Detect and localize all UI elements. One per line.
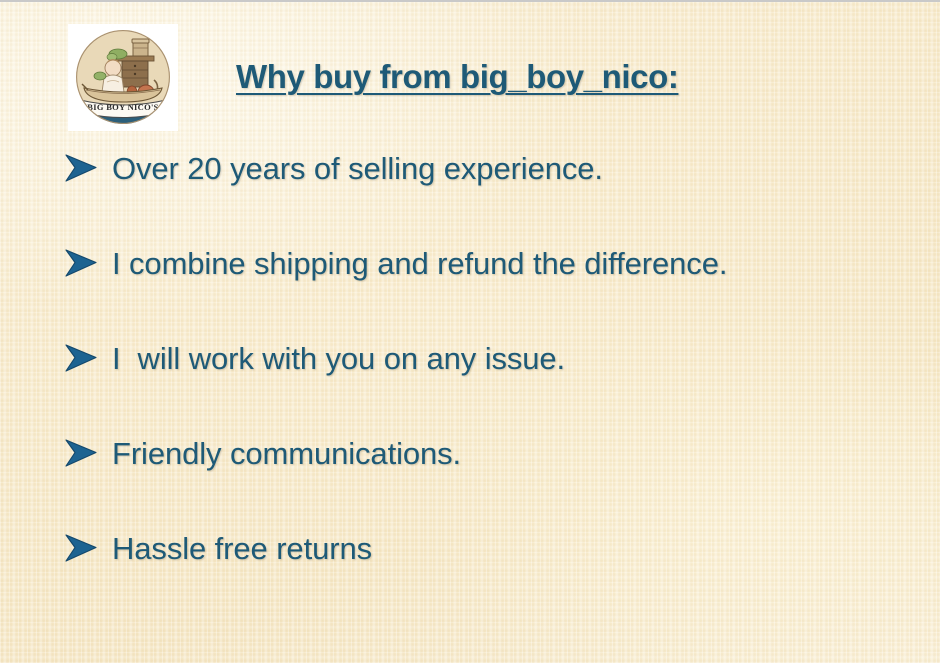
list-item: I will work with you on any issue. bbox=[64, 340, 924, 435]
svg-text:BIG BOY NICO'S: BIG BOY NICO'S bbox=[87, 102, 158, 112]
list-item-label: I combine shipping and refund the differ… bbox=[112, 245, 924, 283]
arrow-bullet-icon bbox=[64, 150, 112, 183]
arrow-bullet-icon bbox=[64, 245, 112, 278]
list-item: Over 20 years of selling experience. bbox=[64, 150, 924, 245]
arrow-bullet-icon bbox=[64, 340, 112, 373]
list-item-label: Over 20 years of selling experience. bbox=[112, 150, 924, 188]
slide-title: Why buy from big_boy_nico: bbox=[236, 58, 678, 96]
list-item-label: I will work with you on any issue. bbox=[112, 340, 924, 378]
list-item: I combine shipping and refund the differ… bbox=[64, 245, 924, 340]
logo-illustration: BIG BOY NICO'S bbox=[76, 30, 170, 124]
list-item: Friendly communications. bbox=[64, 435, 924, 530]
list-item-label: Friendly communications. bbox=[112, 435, 924, 473]
list-item-label: Hassle free returns bbox=[112, 530, 924, 568]
arrow-bullet-icon bbox=[64, 435, 112, 468]
list-item: Hassle free returns bbox=[64, 530, 924, 625]
slide-canvas: BIG BOY NICO'S Why buy from big_boy_nico… bbox=[0, 0, 940, 663]
benefits-list: Over 20 years of selling experience. I c… bbox=[64, 150, 924, 625]
arrow-bullet-icon bbox=[64, 530, 112, 563]
seller-logo: BIG BOY NICO'S bbox=[68, 24, 178, 131]
logo-circle: BIG BOY NICO'S bbox=[76, 30, 170, 124]
